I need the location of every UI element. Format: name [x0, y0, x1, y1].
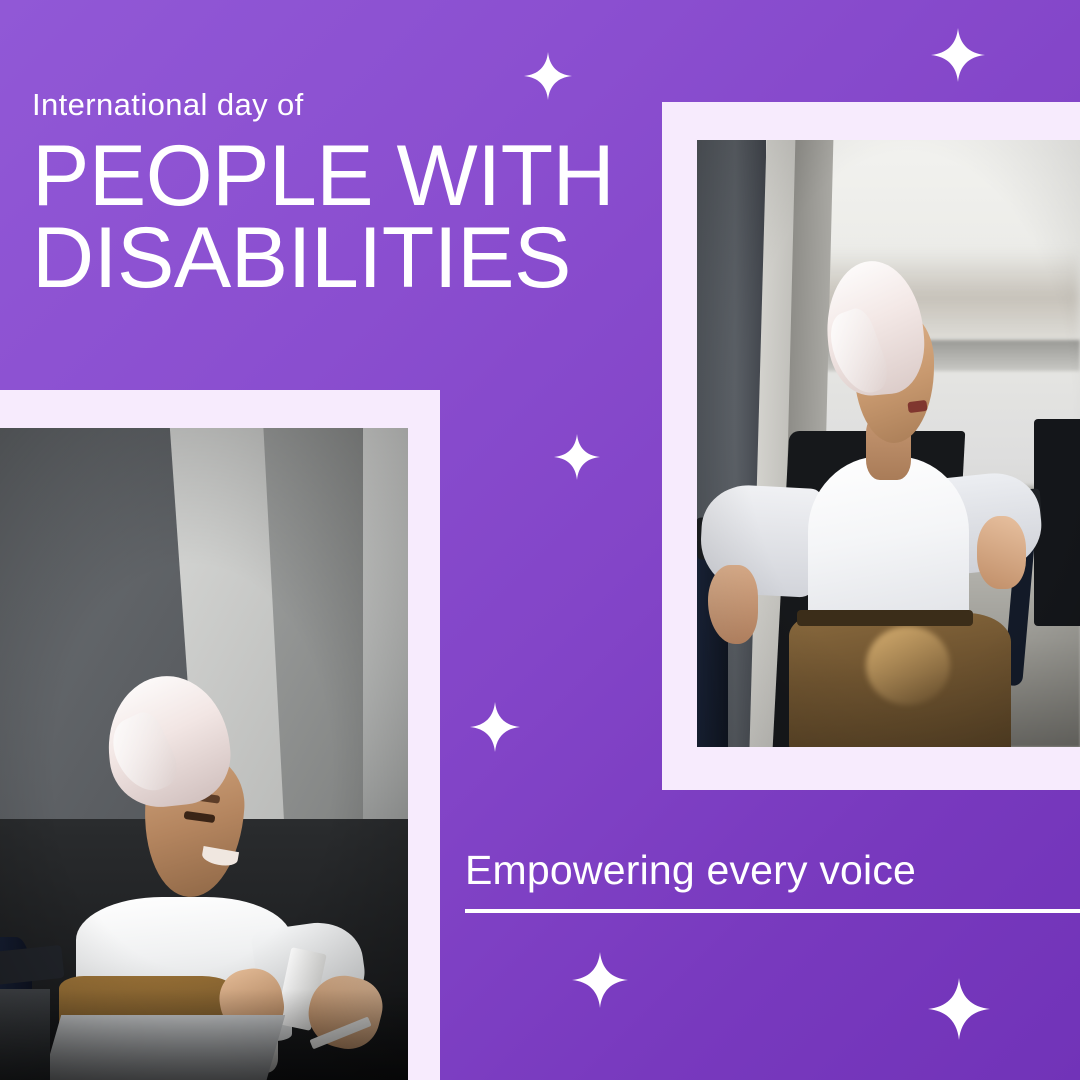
sparkle-mid-left-icon: [554, 434, 600, 480]
tagline-text: Empowering every voice: [465, 848, 1080, 893]
sparkle-bottom-right-icon: [928, 978, 990, 1040]
eyebrow-text: International day of: [32, 88, 672, 122]
photo-top-right-artwork: [697, 140, 1080, 747]
photo-frame-bottom-left: [0, 390, 440, 1080]
photo-bottom-left-artwork: [0, 428, 408, 1080]
headline-block: International day of PEOPLE WITH DISABIL…: [32, 88, 672, 299]
sparkle-mid-lower-icon: [470, 702, 520, 752]
photo-bottom-left: [0, 428, 408, 1080]
page-title: PEOPLE WITH DISABILITIES: [32, 136, 672, 299]
tagline-block: Empowering every voice: [465, 848, 1080, 913]
tagline-divider: [465, 909, 1080, 913]
photo-top-right: [697, 140, 1080, 747]
photo-tr-vignette: [697, 140, 1080, 747]
sparkle-top-right-icon: [931, 28, 985, 82]
photo-frame-top-right: [662, 102, 1080, 790]
title-line-2: DISABILITIES: [32, 218, 672, 300]
photo-bl-vignette: [0, 428, 408, 1080]
sparkle-bottom-center-icon: [572, 952, 628, 1008]
poster-canvas: International day of PEOPLE WITH DISABIL…: [0, 0, 1080, 1080]
